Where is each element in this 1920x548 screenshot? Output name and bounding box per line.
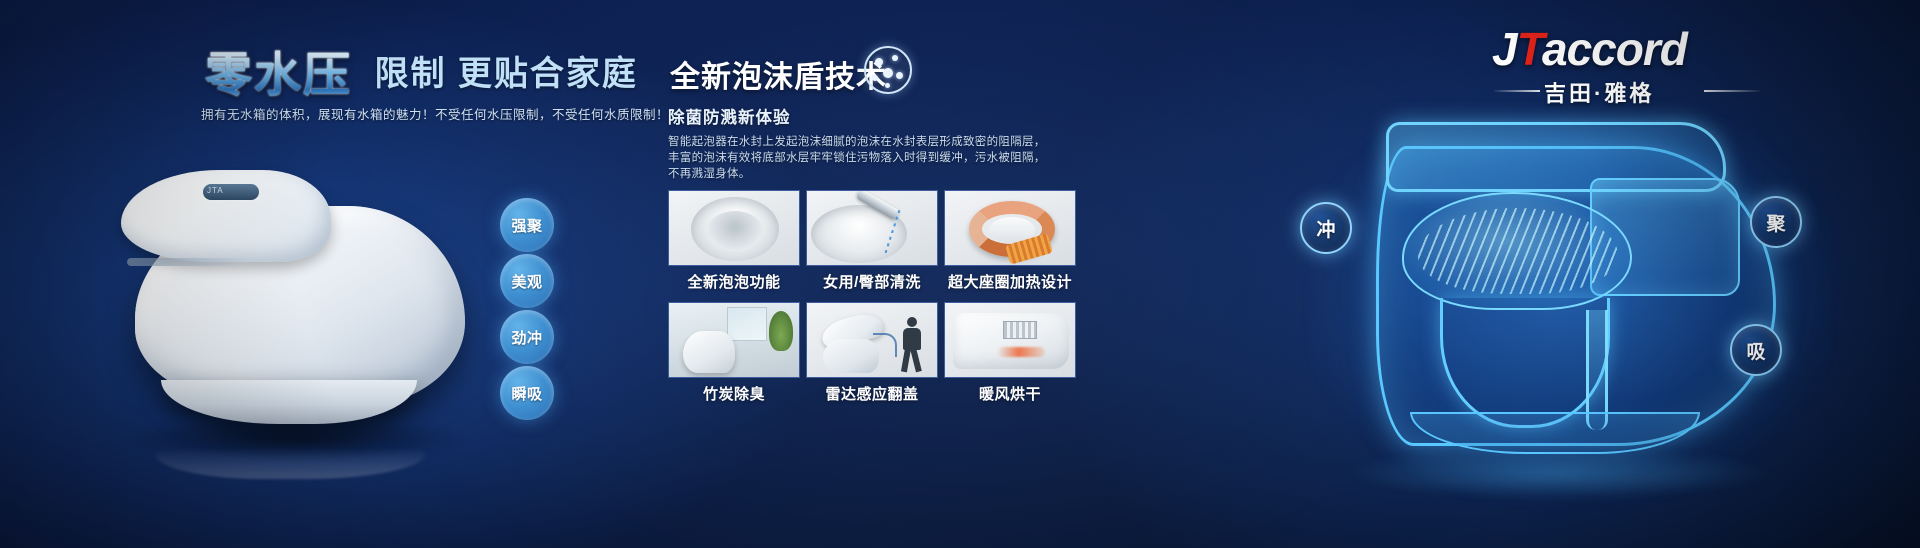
feature-caption: 竹炭除臭 [668,383,800,404]
feature-cell-deodorize[interactable]: 竹炭除臭 [668,302,800,410]
pill-gap [500,365,590,366]
pill-gap [500,253,590,254]
spray-nozzle-icon [806,190,938,266]
badge-xi[interactable]: 吸 [1730,324,1782,376]
badge-chong[interactable]: 冲 [1300,202,1352,254]
toilet-bowl-foam-icon [668,190,800,266]
logo-divider-right [1704,90,1760,92]
pill-gap [500,309,590,310]
brand-logo[interactable]: JTaccord 吉田·雅格 [1492,22,1822,114]
feature-caption: 雷达感应翻盖 [806,383,938,404]
badge-label: 聚 [1766,209,1785,236]
feature-caption: 超大座圈加热设计 [944,271,1076,292]
feature-cell-heated-seat[interactable]: 超大座圈加热设计 [944,190,1076,298]
radar-auto-lid-icon [806,302,938,378]
feature-cell-foam[interactable]: 全新泡泡功能 [668,190,800,298]
pill-jingchong[interactable]: 劲冲 [500,310,554,364]
middle-body-line: 智能起泡器在水封上发起泡沫细腻的泡沫在水封表层形成致密的阻隔层， [668,134,1008,150]
pill-meiguan[interactable]: 美观 [500,254,554,308]
toilet-seam-line [127,258,247,266]
left-description-text: 拥有无水箱的体积，展现有水箱的魅力！不受任何水压限制，不受任何水质限制！ [201,104,669,123]
feature-cell-wash[interactable]: 女用/臀部清洗 [806,190,938,298]
middle-body-line: 丰富的泡沫有效将底部水层牢牢锁住污物落入时得到缓冲，污水被阻隔， [668,150,1008,166]
feature-pill-list: 强聚 美观 劲冲 瞬吸 [500,198,590,421]
brand-wordmark-part2: accord [1542,23,1687,75]
product-banner: 零水压 限制 更贴合家庭 拥有无水箱的体积，展现有水箱的魅力！不受任何水压限制，… [0,0,1920,548]
pill-qiangju[interactable]: 强聚 [500,198,554,252]
pill-label: 强聚 [511,215,542,236]
left-headline: 零水压 限制 更贴合家庭 [205,36,638,105]
middle-subtitle: 除菌防溅新体验 [668,104,791,128]
feature-cell-warm-dry[interactable]: 暖风烘干 [944,302,1076,410]
badge-label: 冲 [1316,215,1335,242]
middle-body-line: 不再溅湿身体。 [668,166,1008,182]
brand-wordmark: JTaccord [1492,22,1822,72]
logo-divider-left [1494,90,1540,92]
pill-label: 美观 [511,271,542,292]
left-section: 零水压 限制 更贴合家庭 拥有无水箱的体积，展现有水箱的魅力！不受任何水压限制，… [0,0,640,548]
brand-name-cn: 吉田·雅格 [1544,76,1654,108]
product-floor-reflection [155,437,425,479]
middle-body-text: 智能起泡器在水封上发起泡沫细腻的泡沫在水封表层形成致密的阻隔层， 丰富的泡沫有效… [668,134,1008,182]
warm-air-dry-icon [944,302,1076,378]
feature-caption: 女用/臀部清洗 [806,271,938,292]
feature-caption: 全新泡泡功能 [668,271,800,292]
feature-cell-radar-lid[interactable]: 雷达感应翻盖 [806,302,938,410]
xray-toilet-diagram: 冲 聚 吸 [1290,112,1850,542]
feature-thumbnail-grid: 全新泡泡功能 女用/臀部清洗 超大座圈加热设计 [668,190,1100,410]
bubble-shield-icon [864,46,912,94]
diagram-flush-channels [1418,208,1618,294]
middle-title: 全新泡沫盾技术 [670,52,887,96]
brand-wordmark-accent: T [1517,23,1542,75]
pill-label: 劲冲 [511,327,542,348]
pill-shunxi[interactable]: 瞬吸 [500,366,554,420]
headline-sub-text: 限制 更贴合家庭 [374,46,637,95]
headline-main-text: 零水压 [205,36,352,105]
middle-section: 全新泡沫盾技术 除菌防溅新体验 智能起泡器在水封上发起泡沫细腻的泡沫在水封表层形… [640,0,1140,548]
right-section: JTaccord 吉田·雅格 冲 聚 吸 [1140,0,1920,548]
feature-caption: 暖风烘干 [944,383,1076,404]
badge-label: 吸 [1746,337,1765,364]
pill-label: 瞬吸 [511,383,542,404]
heated-seat-ring-icon [944,190,1076,266]
badge-ju[interactable]: 聚 [1750,196,1802,248]
toilet-base-shape [161,380,417,424]
toilet-panel-label: JTA [207,186,224,195]
bamboo-charcoal-deodorize-icon [668,302,800,378]
product-photo-smart-toilet: JTA [95,128,495,458]
brand-wordmark-part1: J [1492,23,1517,75]
diagram-floor-glow [1350,448,1770,498]
